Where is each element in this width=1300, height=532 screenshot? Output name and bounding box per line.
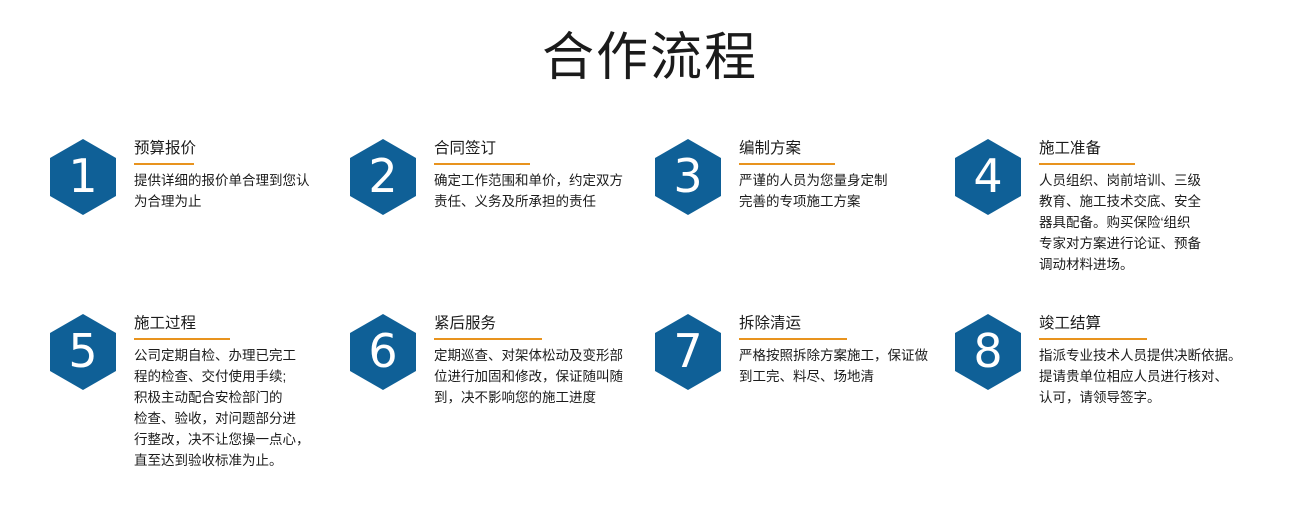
step-description-2: 确定工作范围和单价，约定双方 责任、义务及所承担的责任 (434, 170, 623, 212)
step-title-6: 紧后服务 (434, 314, 623, 334)
step-desc-line: 到，决不影响您的施工进度 (434, 387, 623, 408)
step-item-6[interactable]: 6 紧后服务 定期巡查、对架体松动及变形部 位进行加固和修改，保证随叫随 到，决… (350, 308, 640, 408)
hexagon-badge-6: 6 (350, 314, 416, 390)
hexagon-badge-5: 5 (50, 314, 116, 390)
step-title-5: 施工过程 (134, 314, 310, 334)
step-desc-line: 认可，请领导签字。 (1039, 387, 1242, 408)
step-title-8: 竣工结算 (1039, 314, 1242, 334)
step-desc-line: 位进行加固和修改，保证随叫随 (434, 366, 623, 387)
step-desc-line: 调动材料进场。 (1039, 254, 1201, 275)
hexagon-badge-7: 7 (655, 314, 721, 390)
step-title-3: 编制方案 (739, 139, 888, 159)
step-description-7: 严格按照拆除方案施工，保证做 到工完、料尽、场地清 (739, 345, 928, 387)
step-description-4: 人员组织、岗前培训、三级 教育、施工技术交底、安全 器具配备。购买保险‘组织 专… (1039, 170, 1201, 275)
step-text-5: 施工过程 公司定期自检、办理已完工 程的检查、交付使用手续; 积极主动配合安检部… (134, 308, 310, 471)
step-item-3[interactable]: 3 编制方案 严谨的人员为您量身定制 完善的专项施工方案 (655, 133, 940, 215)
step-description-5: 公司定期自检、办理已完工 程的检查、交付使用手续; 积极主动配合安检部门的 检查… (134, 345, 310, 471)
step-rule-8 (1039, 338, 1147, 340)
hexagon-badge-8: 8 (955, 314, 1021, 390)
step-rule-7 (739, 338, 847, 340)
step-desc-line: 检查、验收，对问题部分进 (134, 408, 310, 429)
step-text-4: 施工准备 人员组织、岗前培训、三级 教育、施工技术交底、安全 器具配备。购买保险… (1039, 133, 1201, 275)
step-desc-line: 公司定期自检、办理已完工 (134, 345, 310, 366)
step-text-6: 紧后服务 定期巡查、对架体松动及变形部 位进行加固和修改，保证随叫随 到，决不影… (434, 308, 623, 408)
step-desc-line: 严谨的人员为您量身定制 (739, 170, 888, 191)
step-title-7: 拆除清运 (739, 314, 928, 334)
step-rule-3 (739, 163, 835, 165)
step-number-8: 8 (973, 328, 1002, 374)
step-desc-line: 程的检查、交付使用手续; (134, 366, 310, 387)
step-desc-line: 指派专业技术人员提供决断依据。 (1039, 345, 1242, 366)
step-rule-2 (434, 163, 530, 165)
step-description-3: 严谨的人员为您量身定制 完善的专项施工方案 (739, 170, 888, 212)
step-item-4[interactable]: 4 施工准备 人员组织、岗前培训、三级 教育、施工技术交底、安全 器具配备。购买… (955, 133, 1255, 275)
step-text-3: 编制方案 严谨的人员为您量身定制 完善的专项施工方案 (739, 133, 888, 212)
steps-row-2: 5 施工过程 公司定期自检、办理已完工 程的检查、交付使用手续; 积极主动配合安… (0, 308, 1300, 498)
step-desc-line: 教育、施工技术交底、安全 (1039, 191, 1201, 212)
step-desc-line: 提请贵单位相应人员进行核对、 (1039, 366, 1242, 387)
step-title-2: 合同签订 (434, 139, 623, 159)
step-rule-6 (434, 338, 542, 340)
step-text-8: 竣工结算 指派专业技术人员提供决断依据。 提请贵单位相应人员进行核对、 认可，请… (1039, 308, 1242, 408)
steps-grid: 1 预算报价 提供详细的报价单合理到您认 为合理为止 2 合同签订 (0, 133, 1300, 498)
hexagon-badge-1: 1 (50, 139, 116, 215)
step-rule-4 (1039, 163, 1135, 165)
hexagon-badge-3: 3 (655, 139, 721, 215)
page-title: 合作流程 (0, 26, 1300, 90)
step-item-5[interactable]: 5 施工过程 公司定期自检、办理已完工 程的检查、交付使用手续; 积极主动配合安… (50, 308, 340, 471)
step-desc-line: 提供详细的报价单合理到您认 (134, 170, 310, 191)
step-desc-line: 行整改，决不让您操一点心， (134, 429, 310, 450)
step-text-1: 预算报价 提供详细的报价单合理到您认 为合理为止 (134, 133, 310, 212)
step-rule-5 (134, 338, 230, 340)
step-desc-line: 定期巡查、对架体松动及变形部 (434, 345, 623, 366)
step-desc-line: 完善的专项施工方案 (739, 191, 888, 212)
step-number-6: 6 (368, 328, 397, 374)
step-description-1: 提供详细的报价单合理到您认 为合理为止 (134, 170, 310, 212)
step-text-2: 合同签订 确定工作范围和单价，约定双方 责任、义务及所承担的责任 (434, 133, 623, 212)
step-desc-line: 确定工作范围和单价，约定双方 (434, 170, 623, 191)
step-item-7[interactable]: 7 拆除清运 严格按照拆除方案施工，保证做 到工完、料尽、场地清 (655, 308, 940, 390)
step-text-7: 拆除清运 严格按照拆除方案施工，保证做 到工完、料尽、场地清 (739, 308, 928, 387)
step-desc-line: 严格按照拆除方案施工，保证做 (739, 345, 928, 366)
step-item-2[interactable]: 2 合同签订 确定工作范围和单价，约定双方 责任、义务及所承担的责任 (350, 133, 640, 215)
step-desc-line: 直至达到验收标准为止。 (134, 450, 310, 471)
step-number-3: 3 (673, 153, 702, 199)
step-item-1[interactable]: 1 预算报价 提供详细的报价单合理到您认 为合理为止 (50, 133, 340, 215)
step-desc-line: 人员组织、岗前培训、三级 (1039, 170, 1201, 191)
step-desc-line: 积极主动配合安检部门的 (134, 387, 310, 408)
step-desc-line: 专家对方案进行论证、预备 (1039, 233, 1201, 254)
step-description-8: 指派专业技术人员提供决断依据。 提请贵单位相应人员进行核对、 认可，请领导签字。 (1039, 345, 1242, 408)
step-rule-1 (134, 163, 194, 165)
step-desc-line: 到工完、料尽、场地清 (739, 366, 928, 387)
steps-row-1: 1 预算报价 提供详细的报价单合理到您认 为合理为止 2 合同签订 (0, 133, 1300, 308)
step-desc-line: 器具配备。购买保险‘组织 (1039, 212, 1201, 233)
hexagon-badge-4: 4 (955, 139, 1021, 215)
step-title-1: 预算报价 (134, 139, 310, 159)
step-description-6: 定期巡查、对架体松动及变形部 位进行加固和修改，保证随叫随 到，决不影响您的施工… (434, 345, 623, 408)
hexagon-badge-2: 2 (350, 139, 416, 215)
step-desc-line: 责任、义务及所承担的责任 (434, 191, 623, 212)
step-number-4: 4 (973, 153, 1002, 199)
step-number-7: 7 (673, 328, 702, 374)
step-item-8[interactable]: 8 竣工结算 指派专业技术人员提供决断依据。 提请贵单位相应人员进行核对、 认可… (955, 308, 1255, 408)
step-number-5: 5 (68, 328, 97, 374)
step-number-1: 1 (68, 153, 97, 199)
cooperation-process-infographic: 合作流程 1 预算报价 提供详细的报价单合理到您认 为合理为止 (0, 0, 1300, 532)
step-title-4: 施工准备 (1039, 139, 1201, 159)
step-number-2: 2 (368, 153, 397, 199)
step-desc-line: 为合理为止 (134, 191, 310, 212)
